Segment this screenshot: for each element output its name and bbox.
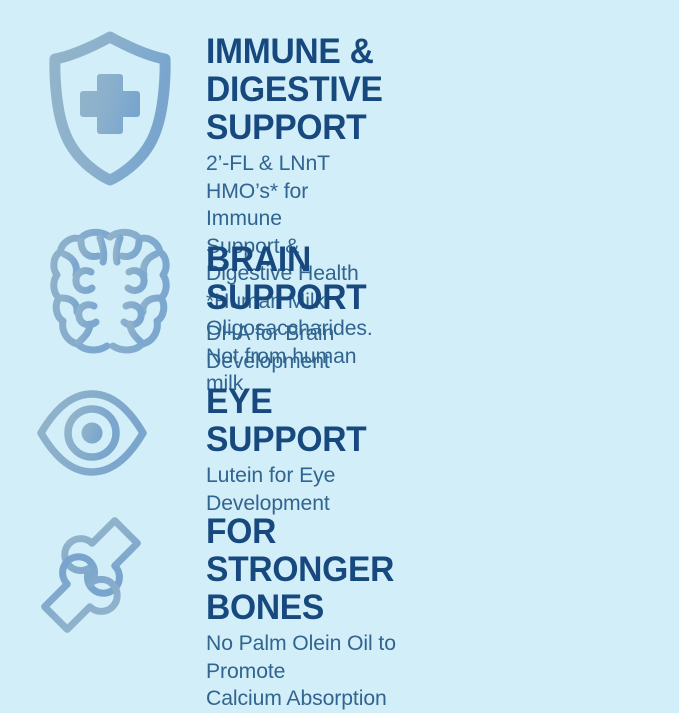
eye-icon: [36, 386, 148, 480]
feature-text-brain: BRAIN SUPPORT DHA for Brain Development: [206, 241, 373, 375]
feature-body: DHA for Brain Development: [206, 320, 371, 375]
feature-text-bones: FOR STRONGER BONES No Palm Olein Oil to …: [206, 513, 402, 713]
shield-with-cross-icon: [48, 32, 172, 184]
feature-body: Lutein for Eye Development: [206, 462, 371, 517]
benefits-panel: IMMUNE & DIGESTIVE SUPPORT 2’-FL & LNnT …: [0, 0, 679, 679]
feature-body: No Palm Olein Oil to Promote Calcium Abs…: [206, 630, 399, 713]
feature-heading: EYE SUPPORT: [206, 383, 366, 459]
bones-icon: [36, 510, 148, 634]
feature-heading: IMMUNE & DIGESTIVE SUPPORT: [206, 33, 383, 147]
brain-icon: [50, 228, 170, 354]
feature-text-eye: EYE SUPPORT Lutein for Eye Development: [206, 383, 373, 517]
feature-heading: FOR STRONGER BONES: [206, 513, 394, 627]
feature-heading: BRAIN SUPPORT: [206, 241, 366, 317]
